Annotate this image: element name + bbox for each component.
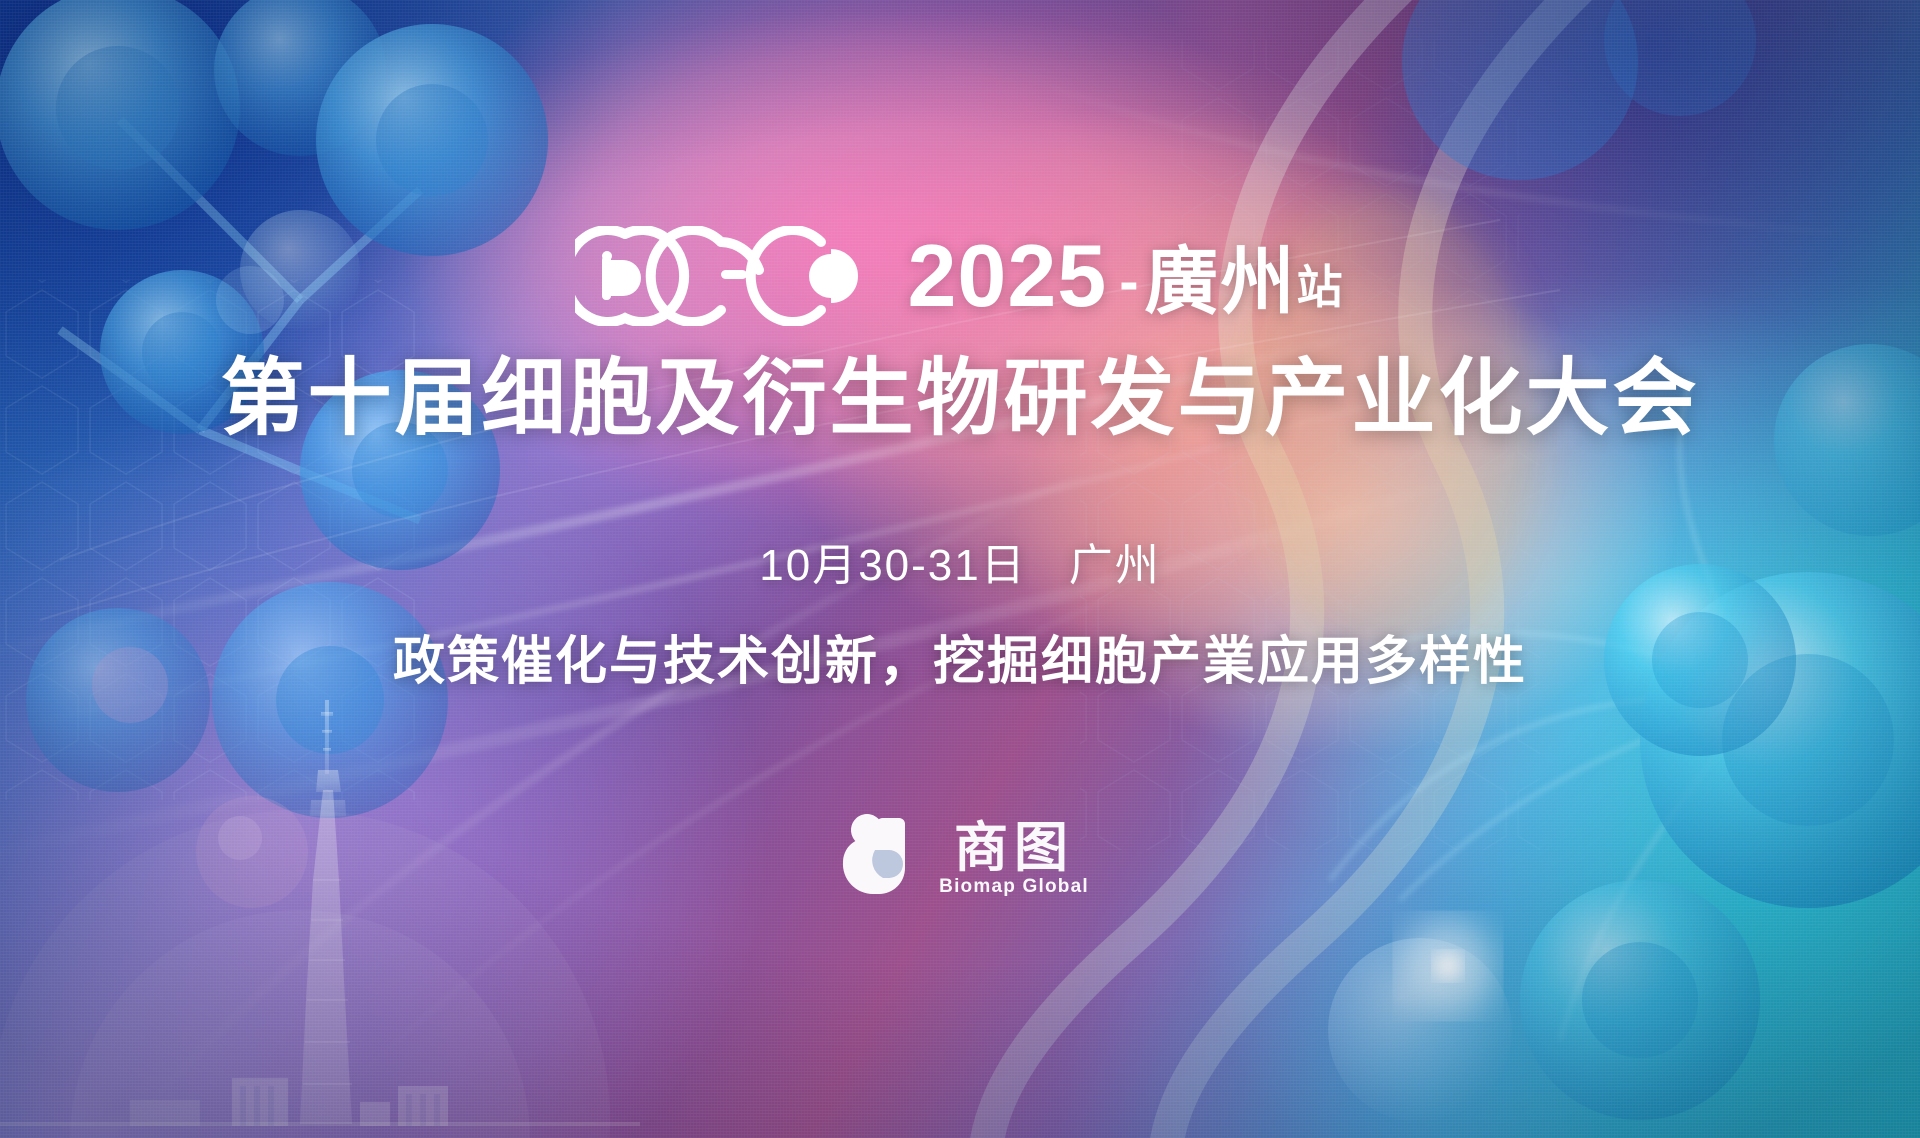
organizer-name-cn: 商图 <box>954 821 1074 875</box>
event-dates: 10月30-31日 <box>759 541 1026 590</box>
city-suffix: 站 <box>1297 260 1345 314</box>
event-tagline: 政策催化与技术创新，挖掘细胞产業应用多样性 <box>393 619 1527 694</box>
biomap-logo-mark-icon <box>831 812 923 904</box>
city-name: 廣州 <box>1145 239 1297 325</box>
dgc-monogram-icon <box>575 226 863 326</box>
event-city-traditional: 廣州站 <box>1145 245 1345 319</box>
event-logotype: 2025 - 廣州站 <box>575 228 1344 324</box>
event-year: 2025 <box>907 232 1107 320</box>
logotype-separator: - <box>1119 253 1138 311</box>
event-schedule: 10月30-31日广州 <box>759 529 1160 593</box>
event-city: 广州 <box>1069 541 1161 590</box>
conference-poster: 2025 - 廣州站 第十届细胞及衍生物研发与产业化大会 10月30-31日广州… <box>0 0 1920 1138</box>
organizer-logo: 商图 Biomap Global <box>831 812 1089 904</box>
organizer-name-en: Biomap Global <box>939 877 1089 896</box>
conference-main-title: 第十届细胞及衍生物研发与产业化大会 <box>220 354 1699 443</box>
